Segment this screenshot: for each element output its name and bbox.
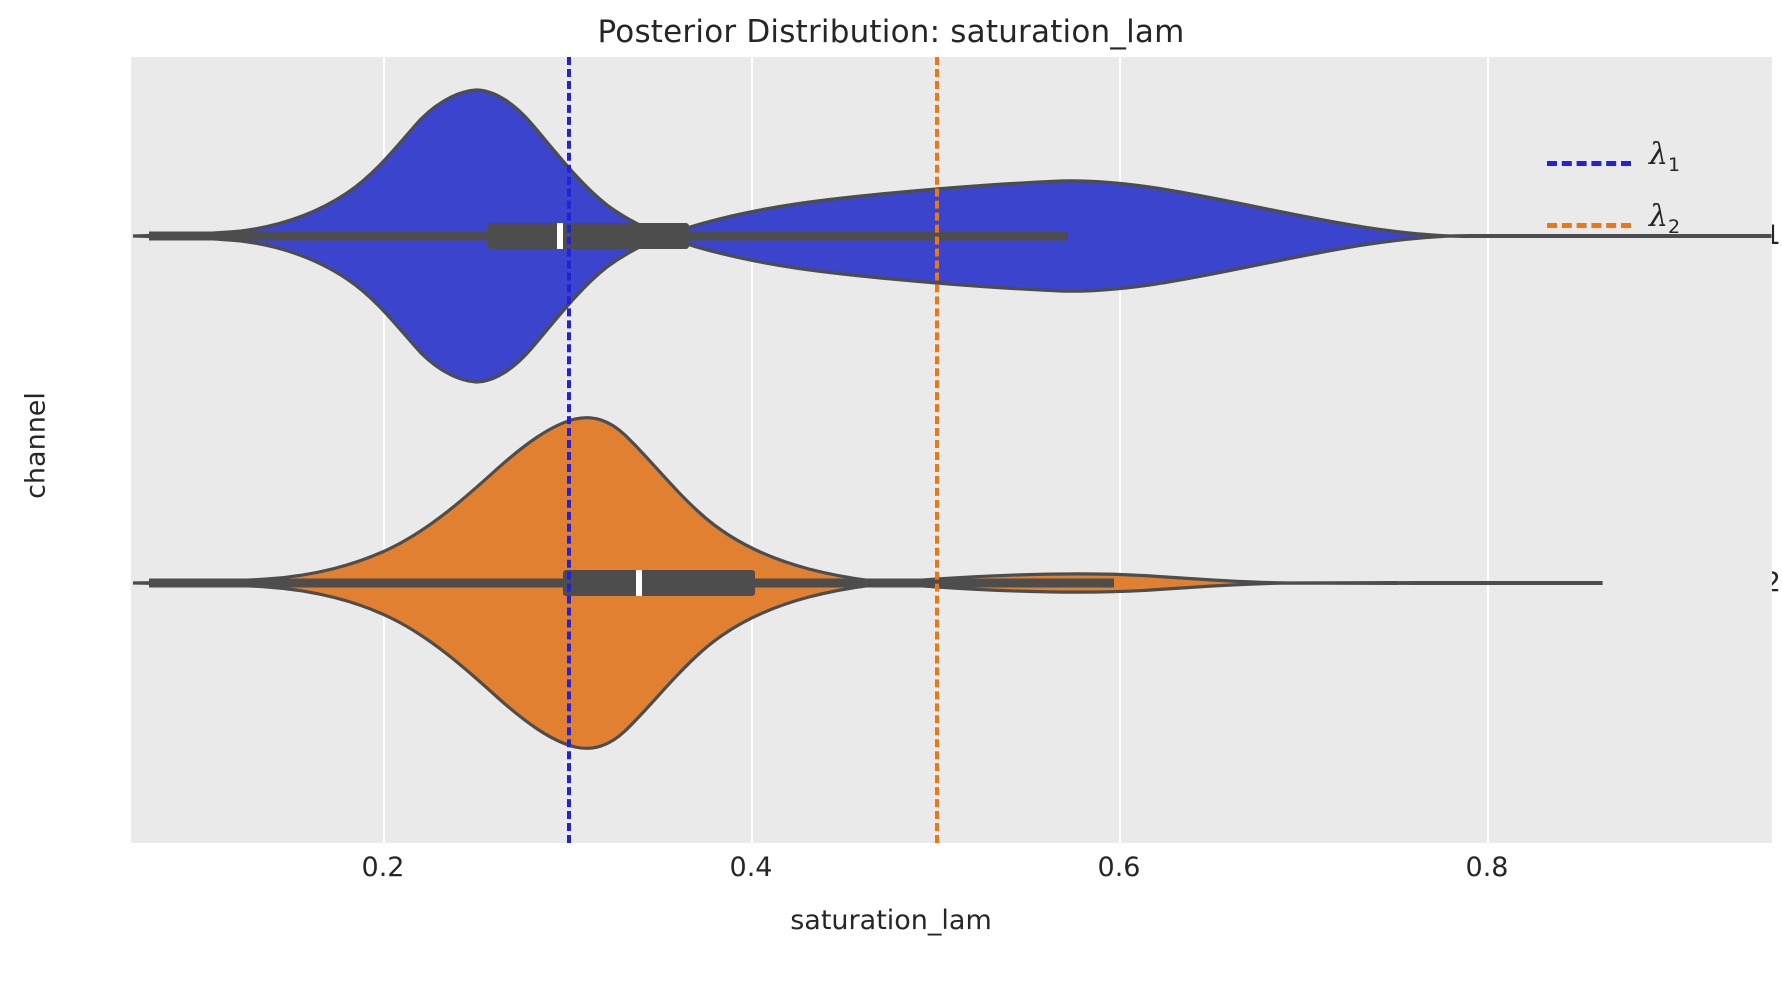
x-axis-label: saturation_lam xyxy=(0,905,1782,936)
violin-shapes xyxy=(131,57,1772,843)
vline-lambda-1 xyxy=(567,57,571,843)
legend-dash-lambda-2 xyxy=(1547,223,1631,228)
violin-plot-figure: Posterior Distribution: saturation_lam c… xyxy=(0,0,1782,983)
chart-title: Posterior Distribution: saturation_lam xyxy=(0,14,1782,50)
median-marker-x1 xyxy=(557,223,563,249)
y-axis-label: channel xyxy=(21,326,52,566)
legend-label-lambda-1-sub: 1 xyxy=(1668,154,1680,176)
median-marker-x2 xyxy=(636,570,642,596)
legend-label-lambda-1: λ1 xyxy=(1649,137,1680,176)
legend-label-lambda-2: λ2 xyxy=(1649,199,1680,238)
iqr-box-x2 xyxy=(563,570,755,596)
vline-lambda-2 xyxy=(935,57,939,843)
legend: λ1 λ2 xyxy=(1539,135,1754,259)
x-tick-label-0.4: 0.4 xyxy=(691,852,811,883)
x-tick-label-0.2: 0.2 xyxy=(323,852,443,883)
legend-label-lambda-2-text: λ xyxy=(1649,199,1668,234)
x-tick-label-0.8: 0.8 xyxy=(1427,852,1547,883)
x-tick-label-0.6: 0.6 xyxy=(1059,852,1179,883)
y-axis-label-container: channel xyxy=(0,57,60,843)
plot-area: λ1 λ2 xyxy=(131,57,1772,843)
legend-dash-lambda-1 xyxy=(1547,161,1631,166)
legend-entry-lambda-1[interactable]: λ1 xyxy=(1539,135,1754,197)
legend-label-lambda-1-text: λ xyxy=(1649,137,1668,172)
legend-label-lambda-2-sub: 2 xyxy=(1668,216,1680,238)
legend-entry-lambda-2[interactable]: λ2 xyxy=(1539,197,1754,259)
iqr-box-x1 xyxy=(488,223,689,249)
